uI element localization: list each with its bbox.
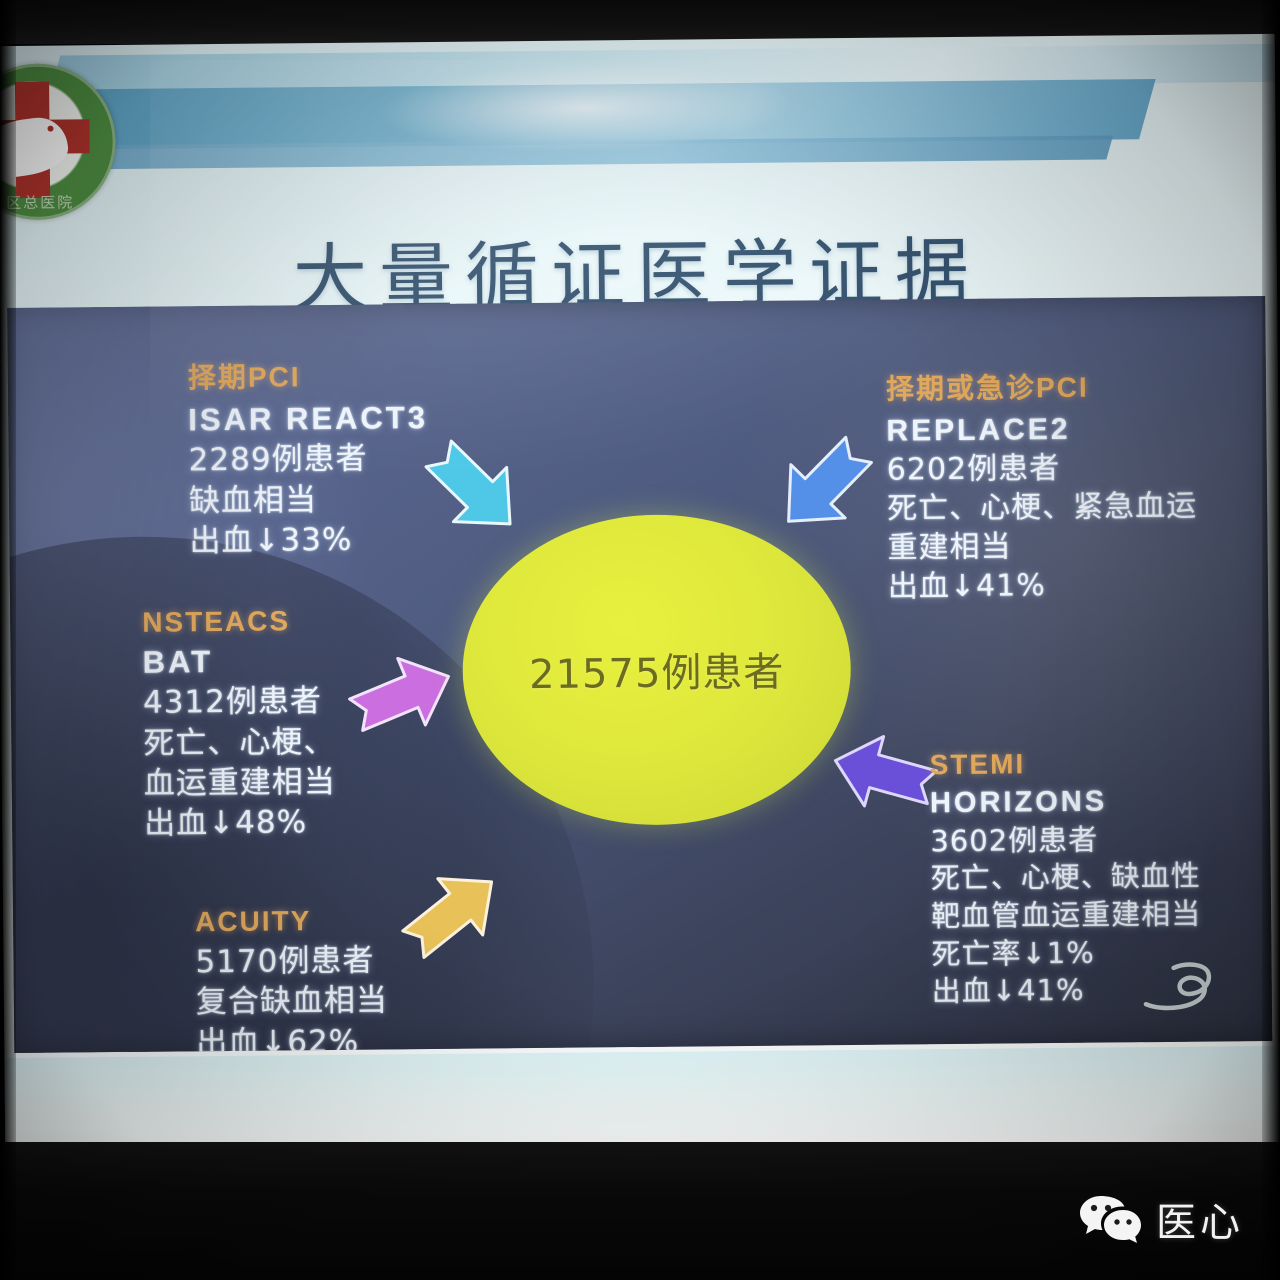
slide-content-panel: 21575例患者 择期PCI ISAR REACT3 2289例患者 缺血相当 … [7, 296, 1272, 1053]
screenshot-stage: 区总医院 大量循证医学证据 [0, 0, 1280, 1280]
block-acuity: ACUITY 5170例患者 复合缺血相当 出血↓62% [195, 904, 388, 1053]
block-acuity-line-3: 出血↓62% [196, 1021, 388, 1053]
slide-footer-band [4, 1046, 1280, 1154]
block-acuity-line-1: 5170例患者 [195, 940, 387, 982]
block-replace2-trial: REPLACE2 [886, 409, 1196, 451]
block-isar-header: 择期PCI [188, 354, 428, 396]
block-isar-line-1: 2289例患者 [189, 438, 429, 481]
block-isar-trial: ISAR REACT3 [188, 398, 428, 441]
block-horizons-line-2: 死亡、心梗、缺血性 [931, 858, 1201, 898]
block-replace2-line-2: 死亡、心梗、紧急血运 [887, 487, 1197, 529]
block-horizons-header: STEMI [930, 747, 1200, 782]
projected-slide: 区总医院 大量循证医学证据 [0, 34, 1280, 1154]
block-horizons-line-1: 3602例患者 [930, 820, 1200, 860]
block-isar-line-2: 缺血相当 [189, 479, 429, 522]
header-glare [363, 60, 808, 154]
hub-total-patients: 21575例患者 [529, 640, 785, 700]
block-bat-header: NSTEACS [142, 605, 334, 639]
arrow-isar-to-hub [412, 427, 537, 551]
block-replace2-line-1: 6202例患者 [887, 448, 1197, 490]
block-bat-line-4: 出血↓48% [144, 802, 336, 844]
wechat-account-name: 医心 [1156, 1190, 1244, 1248]
arrow-bat-to-hub [342, 643, 462, 748]
block-bat-line-2: 死亡、心梗、 [143, 722, 335, 764]
block-bat: NSTEACS BAT 4312例患者 死亡、心梗、 血运重建相当 出血↓48% [142, 605, 336, 844]
block-bat-line-3: 血运重建相当 [144, 762, 336, 804]
block-bat-trial: BAT [142, 641, 334, 683]
arrow-replace-to-hub [761, 423, 885, 548]
block-replace2-line-4: 出血↓41% [888, 565, 1198, 607]
wechat-watermark: 医心 [1078, 1190, 1244, 1248]
block-replace2-line-3: 重建相当 [887, 526, 1197, 568]
block-acuity-line-2: 复合缺血相当 [196, 981, 388, 1023]
block-isar-line-3: 出血↓33% [189, 519, 429, 562]
block-replace2: 择期或急诊PCI REPLACE2 6202例患者 死亡、心梗、紧急血运 重建相… [886, 365, 1198, 607]
slide-header-decoration [0, 34, 1276, 206]
block-horizons-line-3: 靶血管血运重建相当 [931, 896, 1201, 936]
sanofi-swirl-icon [1140, 959, 1227, 1014]
arrow-acuity-to-hub [391, 854, 514, 973]
wechat-icon [1078, 1193, 1142, 1245]
block-horizons-trial: HORIZONS [930, 783, 1200, 823]
arrow-horizons-to-hub [826, 726, 942, 822]
block-bat-line-1: 4312例患者 [143, 681, 335, 723]
block-acuity-header: ACUITY [195, 904, 387, 938]
hospital-logo-caption: 区总医院 [0, 191, 90, 213]
block-replace2-header: 择期或急诊PCI [886, 365, 1196, 408]
block-isar: 择期PCI ISAR REACT3 2289例患者 缺血相当 出血↓33% [188, 354, 430, 561]
